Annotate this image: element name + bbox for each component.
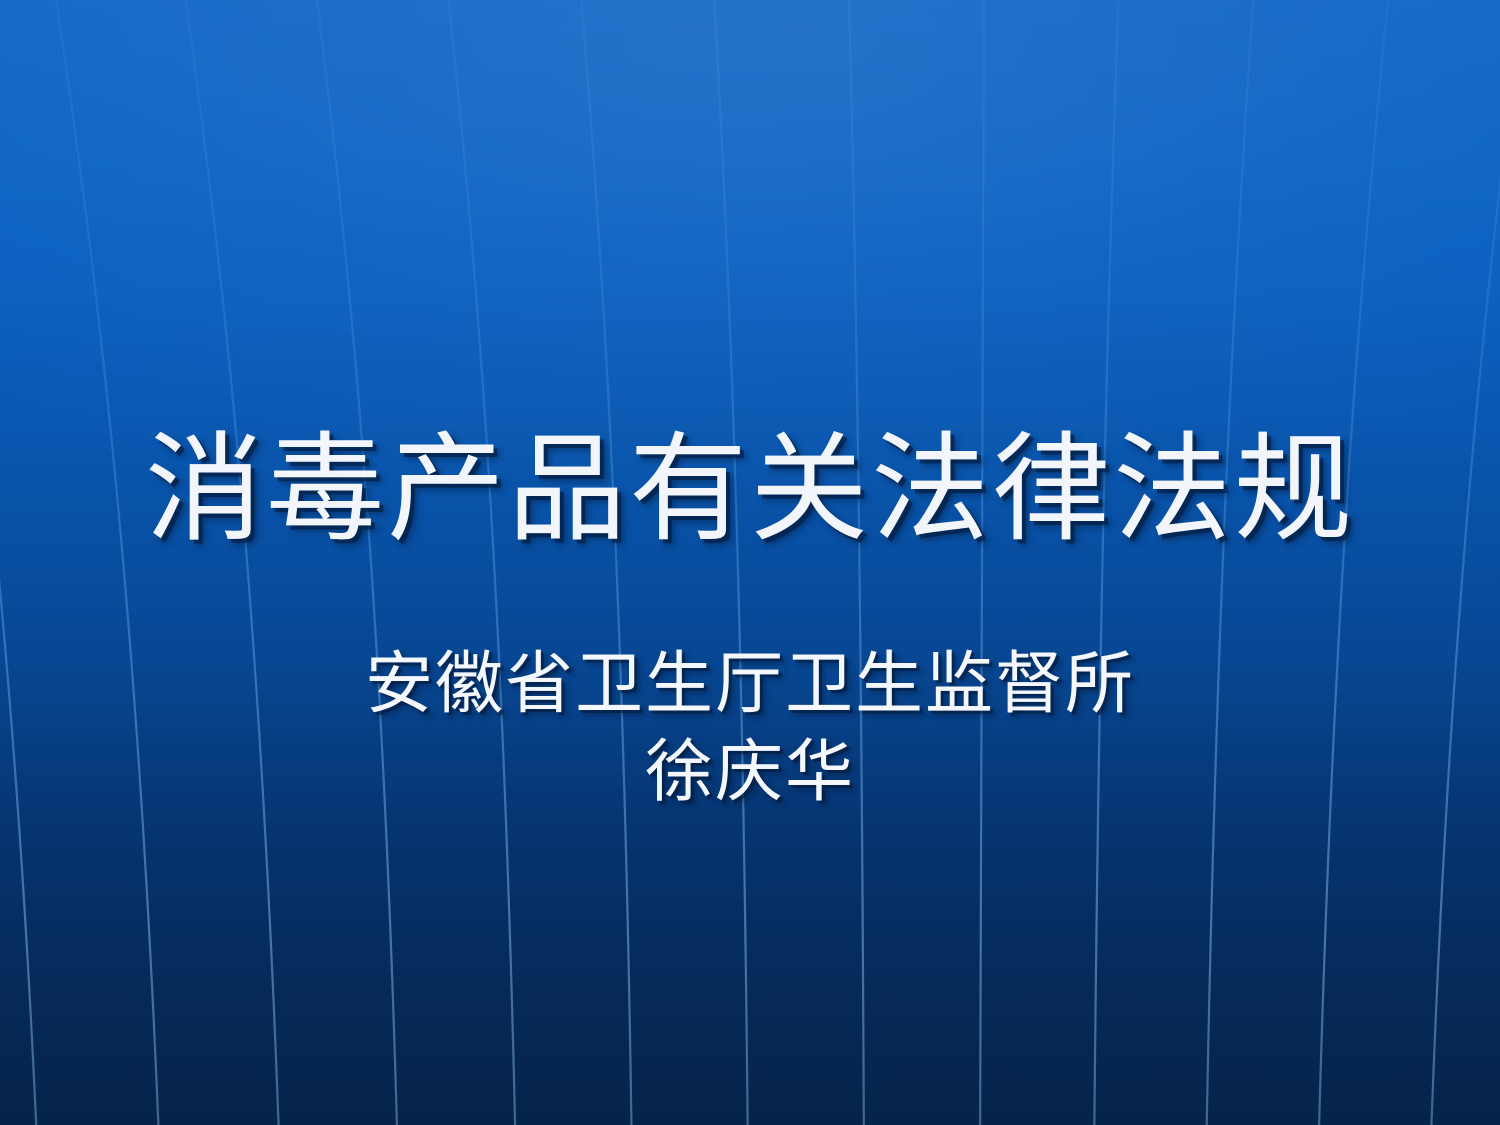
slide-title: 消毒产品有关法律法规 bbox=[0, 430, 1500, 553]
subtitle-organization: 安徽省卫生厅卫生监督所 bbox=[0, 640, 1500, 728]
slide-content: 消毒产品有关法律法规 安徽省卫生厅卫生监督所 徐庆华 bbox=[0, 0, 1500, 1125]
presentation-slide: 消毒产品有关法律法规 安徽省卫生厅卫生监督所 徐庆华 bbox=[0, 0, 1500, 1125]
subtitle-presenter: 徐庆华 bbox=[0, 728, 1500, 816]
slide-subtitle: 安徽省卫生厅卫生监督所 徐庆华 bbox=[0, 640, 1500, 817]
